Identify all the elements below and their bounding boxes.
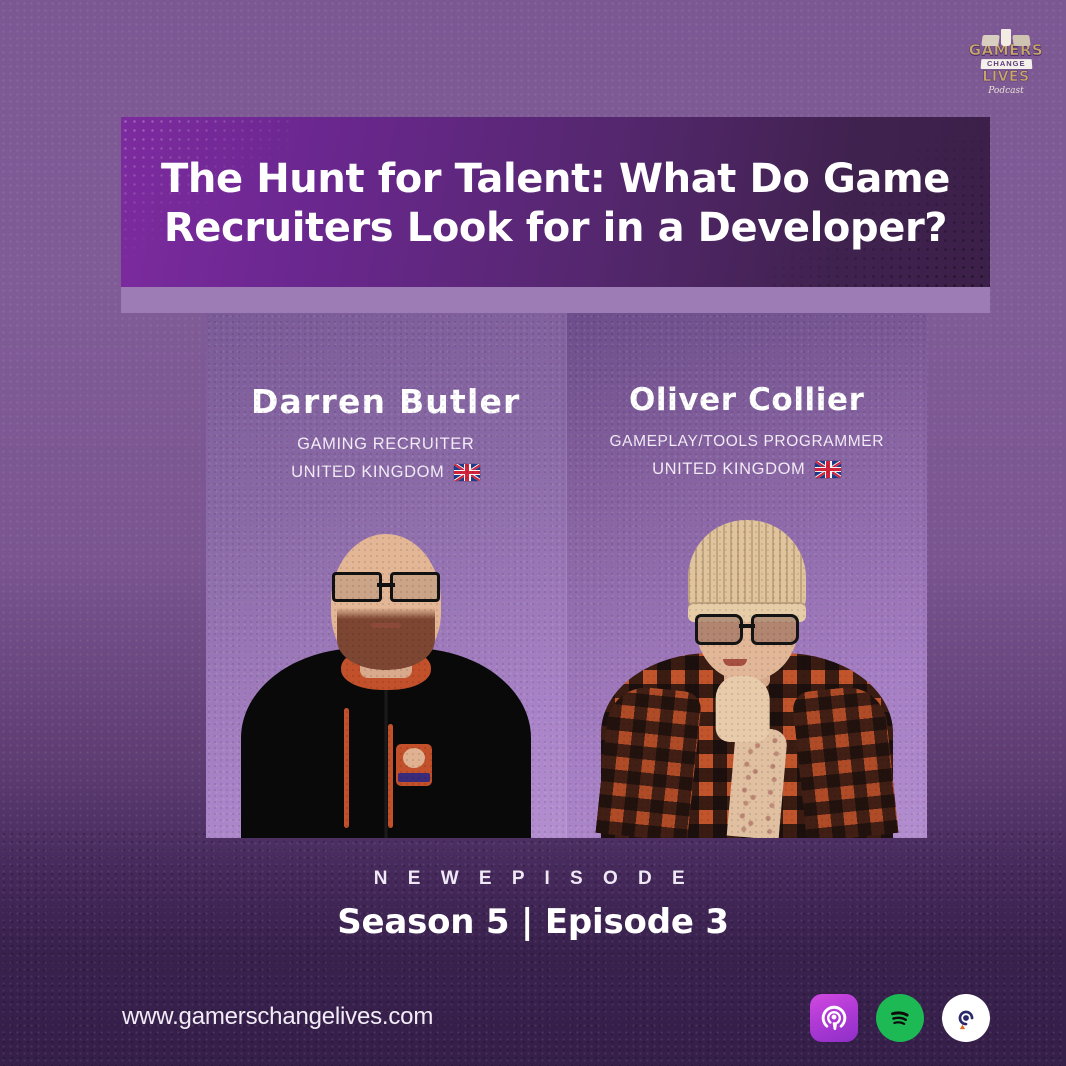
speakers-section: Darren Butler GAMING RECRUITER UNITED KI… [206,313,927,838]
speaker-role: GAMING RECRUITER [206,435,566,454]
speaker-card-darren-butler: Darren Butler GAMING RECRUITER UNITED KI… [206,313,566,838]
apple-podcasts-icon[interactable] [810,994,858,1042]
trophy-icon [1001,29,1011,46]
mouth [723,659,747,666]
speaker-role: GAMEPLAY/TOOLS PROGRAMMER [567,433,928,451]
beard [337,608,435,670]
mouth [371,623,401,628]
gamers-change-lives-logo: GAMERS CHANGE LIVES Podcast [964,16,1048,106]
speaker-photo-darren-butler [236,528,536,838]
hoodie-zipper [384,688,387,838]
spotify-icon[interactable] [876,994,924,1042]
logo-controller-icons [979,26,1033,46]
speaker-country: UNITED KINGDOM [291,463,444,482]
logo-text-change: CHANGE [980,59,1031,68]
website-url[interactable]: www.gamerschangelives.com [122,1003,433,1031]
speaker-country-row: UNITED KINGDOM [567,460,928,479]
speaker-country-row: UNITED KINGDOM [206,463,566,482]
logo-text-podcast: Podcast [988,87,1024,96]
eyeglasses-icon [332,574,440,600]
speaker-info-2: Oliver Collier GAMEPLAY/TOOLS PROGRAMMER… [567,313,928,479]
podcast-platform-links [810,994,990,1042]
podcast-episode-poster: GAMERS CHANGE LIVES Podcast The Hunt for… [0,0,1066,1066]
title-underbar [121,287,990,313]
uk-flag-icon [815,461,841,478]
uk-flag-icon [454,464,480,481]
eyeglasses-icon [695,616,799,642]
arm-left [595,684,702,838]
speaker-name: Oliver Collier [567,385,928,416]
new-episode-label: N E W E P I S O D E [0,868,1066,890]
tattooed-forearm [726,726,787,838]
speaker-country: UNITED KINGDOM [652,460,805,479]
episode-title-band: The Hunt for Talent: What Do Game Recrui… [121,117,990,287]
hand-on-chin [715,676,769,742]
season-episode-label: Season 5 | Episode 3 [0,902,1066,942]
hoodie-drawstring-right [388,724,393,828]
controller-icon [981,35,1000,46]
speaker-name: Darren Butler [206,385,566,418]
episode-title: The Hunt for Talent: What Do Game Recrui… [121,117,990,253]
hoodie-drawstring-left [344,708,349,828]
speaker-info-1: Darren Butler GAMING RECRUITER UNITED KI… [206,313,566,482]
speaker-photo-oliver-collier [597,538,897,838]
pocket-casts-icon[interactable] [942,994,990,1042]
controller-icon-2 [1012,35,1031,46]
speaker-card-oliver-collier: Oliver Collier GAMEPLAY/TOOLS PROGRAMMER… [566,313,928,838]
hoodie-patch [396,744,432,786]
logo-text-lives: LIVES [982,70,1029,84]
